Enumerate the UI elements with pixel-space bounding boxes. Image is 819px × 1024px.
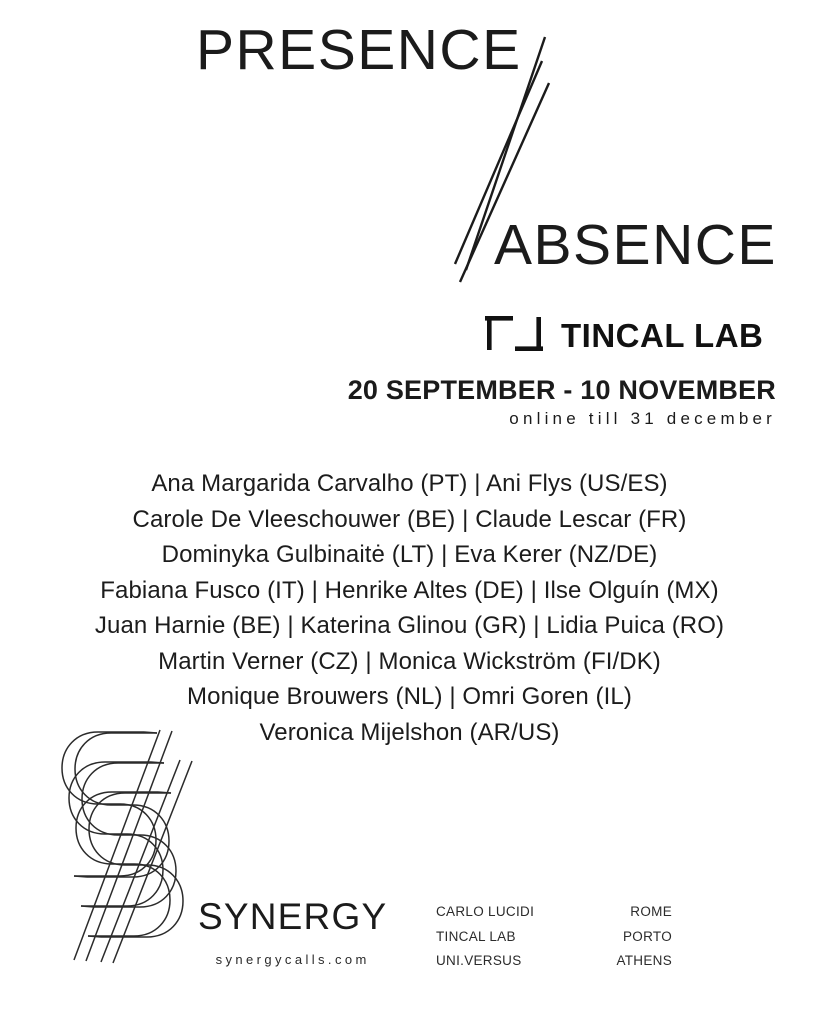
partner-city: ROME — [582, 905, 672, 919]
partner-organization: TINCAL LAB — [436, 930, 546, 944]
artist-line: Carole De Vleeschouwer (BE) | Claude Les… — [0, 502, 819, 538]
artist-list: Ana Margarida Carvalho (PT) | Ani Flys (… — [0, 466, 819, 750]
partner-city: ATHENS — [582, 954, 672, 968]
partner-city: PORTO — [582, 930, 672, 944]
synergy-wordmark-block: SYNERGY synergycalls.com — [198, 898, 387, 966]
synergy-wordmark: SYNERGY — [198, 898, 387, 935]
synergy-url[interactable]: synergycalls.com — [198, 953, 387, 966]
tincal-lab-t-perp-mark-icon — [485, 312, 543, 359]
poster-canvas: PRESENCE ABSENCE TINCAL LAB 20 SEPTEMBER… — [0, 0, 819, 1024]
partner-cities-column: ROME PORTO ATHENS — [582, 905, 672, 968]
dates-block: 20 SEPTEMBER - 10 NOVEMBER online till 3… — [0, 375, 776, 430]
partner-organizations-column: CARLO LUCIDI TINCAL LAB UNI.VERSUS — [436, 905, 546, 968]
online-dates: online till 31 december — [0, 408, 776, 430]
tincal-lab-lockup: TINCAL LAB — [485, 312, 763, 359]
tincal-lab-wordmark: TINCAL LAB — [561, 319, 763, 352]
partner-organization: CARLO LUCIDI — [436, 905, 546, 919]
synergy-triple-s-mark-icon — [56, 722, 196, 970]
artist-line: Monique Brouwers (NL) | Omri Goren (IL) — [0, 679, 819, 715]
exhibition-dates: 20 SEPTEMBER - 10 NOVEMBER — [0, 375, 776, 406]
partner-organization: UNI.VERSUS — [436, 954, 546, 968]
artist-line: Dominyka Gulbinaitė (LT) | Eva Kerer (NZ… — [0, 537, 819, 573]
partners-block: CARLO LUCIDI TINCAL LAB UNI.VERSUS ROME … — [436, 905, 672, 968]
headline-absence: ABSENCE — [494, 217, 777, 274]
artist-line: Juan Harnie (BE) | Katerina Glinou (GR) … — [0, 608, 819, 644]
artist-line: Martin Verner (CZ) | Monica Wickström (F… — [0, 644, 819, 680]
artist-line: Ana Margarida Carvalho (PT) | Ani Flys (… — [0, 466, 819, 502]
synergy-mark-svg — [56, 722, 196, 970]
headline-presence: PRESENCE — [196, 22, 522, 79]
artist-line: Fabiana Fusco (IT) | Henrike Altes (DE) … — [0, 573, 819, 609]
